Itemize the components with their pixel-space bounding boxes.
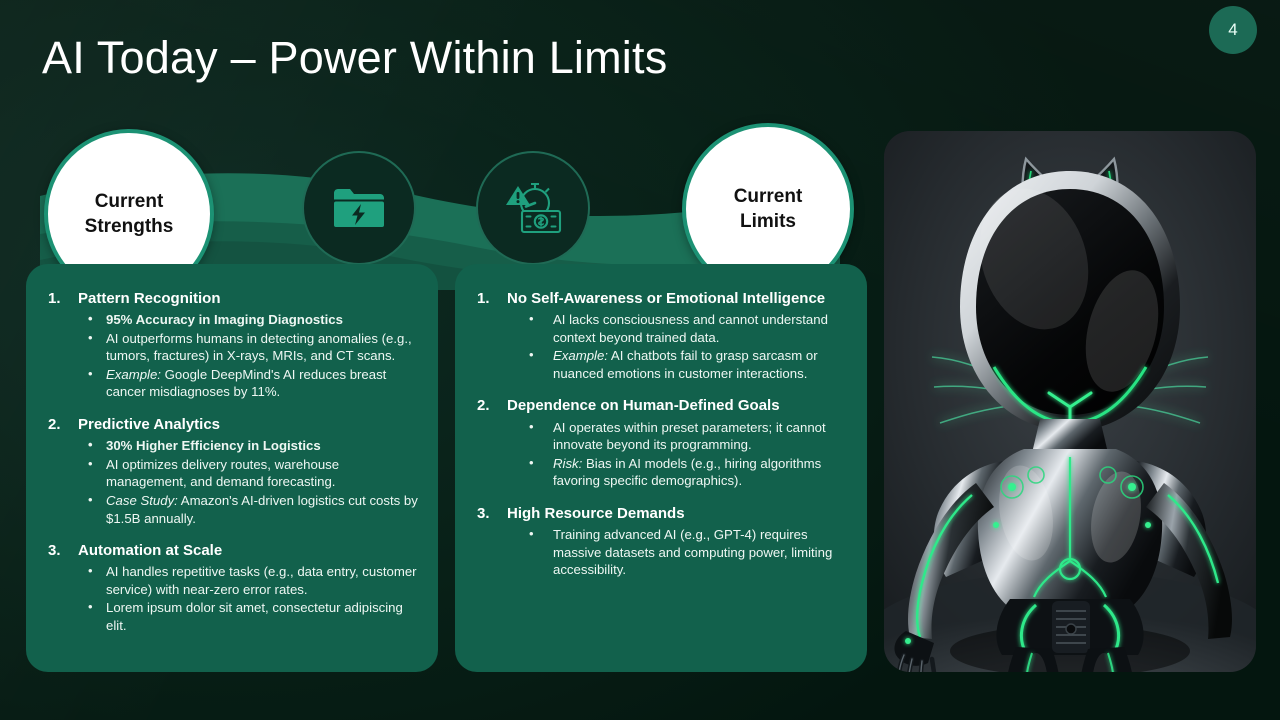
sub-bullet: Example: Google DeepMind's AI reduces br… <box>78 366 422 401</box>
list-item-title: No Self-Awareness or Emotional Intellige… <box>507 290 851 308</box>
list-item-title: Dependence on Human-Defined Goals <box>507 397 851 415</box>
list-item: Automation at ScaleAI handles repetitive… <box>48 542 422 634</box>
page-number-badge: 4 <box>1209 6 1257 54</box>
bullet-lead-label: Example: <box>553 348 608 363</box>
badge-strengths-line2: Strengths <box>85 214 174 239</box>
list-item-title: Predictive Analytics <box>78 416 422 434</box>
list-item: High Resource DemandsTraining advanced A… <box>477 505 851 579</box>
sub-bullet: Case Study: Amazon's AI-driven logistics… <box>78 492 422 527</box>
sub-bullet-list: AI handles repetitive tasks (e.g., data … <box>78 563 422 634</box>
warning-clock-money-icon <box>476 151 590 265</box>
page-number-text: 4 <box>1228 20 1237 40</box>
badge-limits-line2: Limits <box>734 209 803 234</box>
sub-bullet-list: Training advanced AI (e.g., GPT-4) requi… <box>507 526 851 579</box>
sub-bullet: 30% Higher Efficiency in Logistics <box>78 437 422 455</box>
sub-bullet: AI operates within preset parameters; it… <box>507 419 851 454</box>
page-title: AI Today – Power Within Limits <box>42 32 667 84</box>
sub-bullet-list: 30% Higher Efficiency in LogisticsAI opt… <box>78 437 422 527</box>
sub-bullet-list: AI operates within preset parameters; it… <box>507 419 851 490</box>
list-item-title: Automation at Scale <box>78 542 422 560</box>
list-item: Predictive Analytics30% Higher Efficienc… <box>48 416 422 527</box>
panel-current-limits: No Self-Awareness or Emotional Intellige… <box>455 264 867 672</box>
bullet-lead-label: Risk: <box>553 456 582 471</box>
list-item-title: Pattern Recognition <box>78 290 422 308</box>
bullet-text: Bias in AI models (e.g., hiring algorith… <box>553 456 821 489</box>
list-item-title: High Resource Demands <box>507 505 851 523</box>
sub-bullet-list: 95% Accuracy in Imaging DiagnosticsAI ou… <box>78 311 422 401</box>
sub-bullet: Risk: Bias in AI models (e.g., hiring al… <box>507 455 851 490</box>
bullet-lead-label: Case Study: <box>106 493 178 508</box>
badge-limits-line1: Current <box>734 184 803 209</box>
sub-bullet: AI optimizes delivery routes, warehouse … <box>78 456 422 491</box>
sub-bullet: AI handles repetitive tasks (e.g., data … <box>78 563 422 598</box>
sub-bullet-list: AI lacks consciousness and cannot unders… <box>507 311 851 382</box>
panel-current-strengths: Pattern Recognition95% Accuracy in Imagi… <box>26 264 438 672</box>
strengths-list: Pattern Recognition95% Accuracy in Imagi… <box>48 290 422 635</box>
sub-bullet: Lorem ipsum dolor sit amet, consectetur … <box>78 599 422 634</box>
sub-bullet: AI lacks consciousness and cannot unders… <box>507 311 851 346</box>
sub-bullet: 95% Accuracy in Imaging Diagnostics <box>78 311 422 329</box>
badge-strengths-line1: Current <box>85 189 174 214</box>
presentation-slide: AI Today – Power Within Limits 4 <box>0 0 1280 720</box>
sub-bullet: Example: AI chatbots fail to grasp sarca… <box>507 347 851 382</box>
bullet-lead-label: Example: <box>106 367 161 382</box>
folder-lightning-icon <box>302 151 416 265</box>
robotic-cat-android-photo <box>884 131 1256 672</box>
list-item: Dependence on Human-Defined GoalsAI oper… <box>477 397 851 489</box>
sub-bullet: AI outperforms humans in detecting anoma… <box>78 330 422 365</box>
limits-list: No Self-Awareness or Emotional Intellige… <box>477 290 851 579</box>
sub-bullet: Training advanced AI (e.g., GPT-4) requi… <box>507 526 851 579</box>
list-item: No Self-Awareness or Emotional Intellige… <box>477 290 851 382</box>
list-item: Pattern Recognition95% Accuracy in Imagi… <box>48 290 422 401</box>
